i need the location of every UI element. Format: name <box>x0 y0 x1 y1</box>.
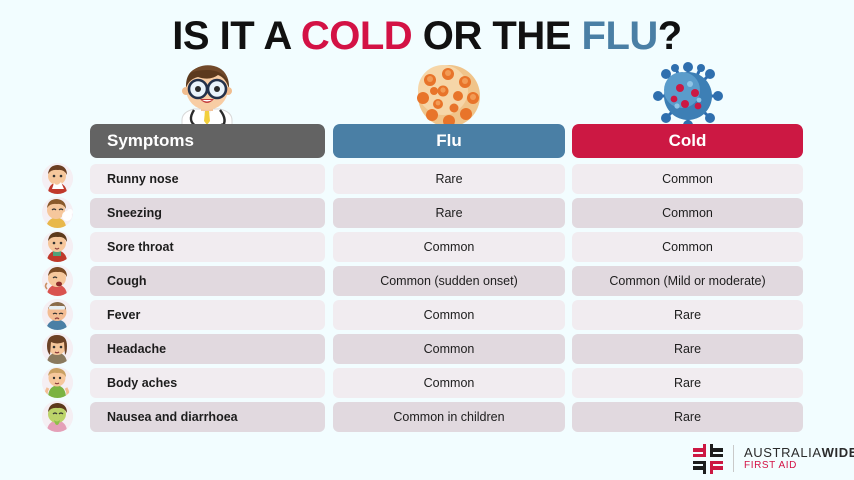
symptom-name: Cough <box>90 266 325 296</box>
logo-wordmark: AUSTRALIAWIDE FIRST AID <box>744 445 854 472</box>
symptom-name: Runny nose <box>90 164 325 194</box>
flu-value: Common (sudden onset) <box>333 266 565 296</box>
table-row: Sneezing Rare Common <box>0 198 854 228</box>
symptom-name: Headache <box>90 334 325 364</box>
cold-value: Common <box>572 164 803 194</box>
title-word-cold: COLD <box>301 14 412 58</box>
symptom-name: Sneezing <box>90 198 325 228</box>
column-header-cold: Cold <box>572 124 803 158</box>
symptom-name: Sore throat <box>90 232 325 262</box>
cold-value: Common <box>572 198 803 228</box>
illustration-strip <box>0 58 854 130</box>
table-row: Body aches Common Rare <box>0 368 854 398</box>
flu-value: Rare <box>333 164 565 194</box>
column-header-flu: Flu <box>333 124 565 158</box>
logo-wide: WIDE <box>822 445 854 460</box>
page-title: IS IT A COLD OR THE FLU? <box>0 14 854 59</box>
title-part-2: OR THE <box>412 14 581 58</box>
australia-wide-cross-icon <box>693 444 723 474</box>
table-header-row: Symptoms Flu Cold <box>0 124 854 158</box>
column-header-symptoms: Symptoms <box>90 124 325 158</box>
flu-value: Common in children <box>333 402 565 432</box>
logo-line-2: FIRST AID <box>744 460 854 472</box>
flu-value: Common <box>333 300 565 330</box>
symptom-avatar-headache <box>42 333 73 364</box>
cold-virus-illustration <box>633 58 743 130</box>
logo-divider <box>733 445 734 472</box>
cold-value: Rare <box>572 368 803 398</box>
doctor-illustration <box>152 58 262 130</box>
symptom-avatar-cough <box>42 265 73 296</box>
cold-value: Common (Mild or moderate) <box>572 266 803 296</box>
flu-value: Rare <box>333 198 565 228</box>
symptom-name: Body aches <box>90 368 325 398</box>
logo-australia: AUSTRALIA <box>744 445 822 460</box>
table-row: Sore throat Common Common <box>0 232 854 262</box>
symptom-avatar-runny-nose <box>42 163 73 194</box>
symptom-avatar-body-aches <box>42 367 73 398</box>
comparison-table: Symptoms Flu Cold Runny nose Rare Common… <box>0 124 854 436</box>
title-word-flu: FLU <box>582 14 658 58</box>
table-row: Cough Common (sudden onset) Common (Mild… <box>0 266 854 296</box>
title-part-1: IS IT A <box>172 14 301 58</box>
symptom-avatar-fever <box>42 299 73 330</box>
cold-value: Common <box>572 232 803 262</box>
symptom-avatar-sneezing <box>42 197 73 228</box>
flu-value: Common <box>333 334 565 364</box>
title-part-3: ? <box>658 14 682 58</box>
symptom-avatar-nausea <box>42 401 73 432</box>
table-row: Runny nose Rare Common <box>0 164 854 194</box>
table-row: Headache Common Rare <box>0 334 854 364</box>
cold-value: Rare <box>572 300 803 330</box>
symptom-name: Nausea and diarrhoea <box>90 402 325 432</box>
cold-value: Rare <box>572 402 803 432</box>
symptom-avatar-sore-throat <box>42 231 73 262</box>
symptom-name: Fever <box>90 300 325 330</box>
cold-value: Rare <box>572 334 803 364</box>
flu-value: Common <box>333 232 565 262</box>
flu-value: Common <box>333 368 565 398</box>
table-row: Fever Common Rare <box>0 300 854 330</box>
flu-virus-illustration <box>394 58 504 130</box>
table-row: Nausea and diarrhoea Common in children … <box>0 402 854 432</box>
brand-logo[interactable]: AUSTRALIAWIDE FIRST AID <box>693 442 843 476</box>
logo-line-1: AUSTRALIAWIDE <box>744 445 854 460</box>
